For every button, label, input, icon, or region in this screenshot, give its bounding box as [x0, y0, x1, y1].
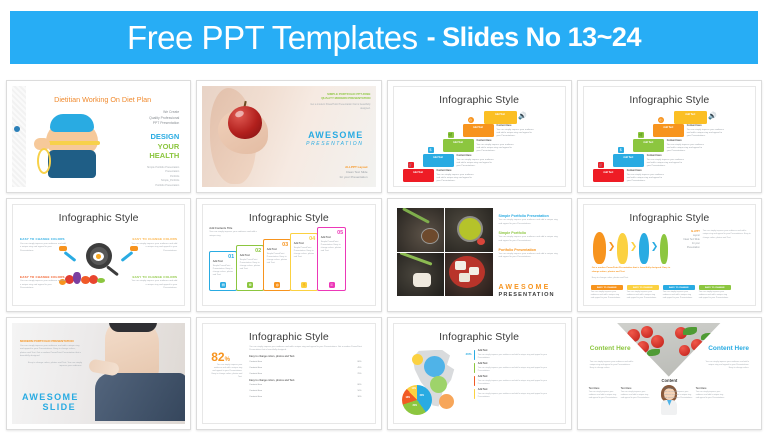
- leaf-icon: 🌿: [638, 132, 644, 138]
- slide-13-footer-5: Portfolio Presentation: [127, 184, 179, 188]
- slide-19-headline-1: AWESOME: [499, 284, 555, 291]
- food-photo-3: [397, 253, 444, 296]
- header-banner: Free PPT Templates - Slides No 13~24: [10, 11, 758, 64]
- slide-16-content-label-3: Content Here: [667, 139, 707, 143]
- slide-17-text-3: You can simply impress your audience and…: [20, 280, 66, 290]
- key-icon: ⚿: [329, 282, 335, 288]
- slide-20-subnote: Easy to change colors, photos and Text.: [592, 277, 702, 279]
- slide-13-headline-design: DESIGN: [127, 132, 179, 141]
- leaf-icon: ❁: [247, 282, 253, 288]
- slide-15-content-label-3: Content Here: [477, 139, 517, 143]
- slide-16-content-text-2: You can simply impress your audience and…: [647, 159, 684, 168]
- decor-texture-strip: [12, 86, 26, 187]
- legend-item: Add TextYou can simply impress your audi…: [474, 350, 560, 360]
- slide-16-content-text-1: You can simply impress your audience and…: [627, 174, 664, 183]
- slide-15-step-4-label: Add Text: [473, 126, 483, 129]
- slide-17-label-2: EASY TO CHANGE COLORS: [131, 237, 177, 241]
- card-05-label: Add Text: [321, 236, 344, 240]
- card-02-number: 02: [255, 248, 261, 254]
- slide-24-col-3: Text HereYou can simply impress your aud…: [664, 387, 694, 400]
- card-02-body: Simple PowerPoint Presentation. Easy to …: [240, 259, 260, 270]
- slide-thumbnail-24[interactable]: Content Here You can simply impress your…: [577, 317, 762, 430]
- slide-18-header-text: You can simply impress your audience and…: [209, 231, 257, 238]
- leaf-icon-veg: [97, 278, 105, 283]
- pie-label-1: 40%: [420, 395, 425, 397]
- slide-14-headline-2: PRESENTATION: [306, 141, 363, 147]
- slide-24-right-heading: Content Here: [708, 345, 749, 352]
- slide-14-bottom-3: for your Presentation: [340, 175, 368, 180]
- slide-22-percent-value: 82: [211, 350, 224, 364]
- stair-infographic: 🛒 Add Text Content HereYou can simply im…: [400, 111, 561, 182]
- card-03-label: Add Text: [267, 248, 289, 252]
- slide-15-content-label-2: Content Here: [457, 154, 497, 158]
- slide-24-col-1: Text HereYou can simply impress your aud…: [589, 387, 619, 400]
- slide-14-bottom-1: ALLPPT Layout: [345, 165, 367, 169]
- slide-24-col-4: Text HereYou can simply impress your aud…: [696, 387, 726, 400]
- slide-thumbnail-14[interactable]: SIMPLE PORTFOLIO PPT-FREE QUALITY MODERN…: [196, 80, 381, 193]
- slide-20-tag-4: EASY TO CHANGE: [699, 285, 731, 290]
- chart-legend: Add TextYou can simply impress your audi…: [474, 350, 560, 403]
- slide-20-kicker-4: for your: [692, 243, 700, 245]
- bubble-3: [430, 376, 447, 393]
- slide-thumbnail-15[interactable]: Infographic Style 🛒 Add Text Content Her…: [387, 80, 572, 193]
- slide-15-content-text-4: You can simply impress your audience and…: [497, 129, 534, 138]
- slide-16-step-5-label: Add Text: [685, 113, 695, 116]
- slide-20-orange-note: Get a modern PowerPoint Presentation tha…: [592, 267, 672, 274]
- slide-19-text-1: You can simply impress your audience and…: [499, 219, 562, 226]
- slide-14-green-note-2: QUALITY MODERN PRESENTATION: [305, 96, 371, 100]
- slide-15-title: Infographic Style: [394, 94, 565, 106]
- slide-22-title: Infographic Style: [203, 331, 374, 343]
- food-photo-grid: [397, 208, 493, 296]
- slide-thumbnail-20[interactable]: Infographic Style ❯ ❯ ❯ ALLPPT Layout Cl…: [577, 198, 762, 311]
- slide-20-title: Infographic Style: [584, 212, 755, 224]
- slide-23-bubble-pct: 40%: [466, 352, 472, 356]
- slide-15-content-text-2: You can simply impress your audience and…: [457, 159, 494, 168]
- slide-20-kicker-5: Presentation: [687, 247, 700, 249]
- drop-icon: ◍: [274, 282, 280, 288]
- slide-22-group-1-label: Easy to change colors, photos and Text.: [249, 355, 368, 358]
- slide-14-headline-1: AWESOME: [306, 130, 363, 140]
- slide-20-tag-2: EASY TO CHANGE: [627, 285, 659, 290]
- slide-20-tag-1: EASY TO CHANGE: [591, 285, 623, 290]
- legend-item: Add TextYou can simply impress your audi…: [474, 389, 560, 399]
- slide-19-text-3: You can simply impress your audience and…: [499, 253, 562, 260]
- card-01-body: Simple PowerPoint Presentation. Easy to …: [213, 265, 233, 276]
- slide-15-content-label-4: Content Here: [497, 124, 537, 128]
- slide-thumbnail-21[interactable]: MODERN PORTFOLIO PRESENTATION You can si…: [6, 317, 191, 430]
- slide-15-content-label-1: Content Here: [437, 169, 477, 173]
- bar-row: Contents Here30%: [249, 395, 368, 399]
- slide-thumbnail-16[interactable]: Infographic Style 🛒 Add Text Content Her…: [577, 80, 762, 193]
- slide-20-tag-1-text: You can simply impress your audience and…: [591, 291, 623, 300]
- slide-22-percent-symbol: %: [225, 357, 230, 363]
- slide-16-content-label-1: Content Here: [627, 169, 667, 173]
- pan-handle-icon: [106, 266, 119, 277]
- slide-thumbnail-17[interactable]: Infographic Style EASY TO CHANG: [6, 198, 191, 311]
- slide-19-heading-1: Simple Portfolio Presentation: [499, 214, 562, 218]
- slide-20-tag-2-text: You can simply impress your audience and…: [627, 291, 659, 300]
- slide-thumbnail-18[interactable]: Infographic Style Add Contents Title You…: [196, 198, 381, 311]
- slide-21-headline-1: AWESOME: [22, 392, 79, 402]
- slide-20-right-text: You can simply impress your audience and…: [703, 230, 751, 239]
- food-photo-1: [397, 208, 444, 251]
- slide-15-step-1-label: Add Text: [413, 171, 423, 174]
- page-root: Free PPT Templates - Slides No 13~24 Die…: [0, 0, 768, 435]
- slide-13-kicker-3: PPT Presentation: [127, 121, 179, 127]
- bubble-1: [412, 354, 423, 365]
- card-05-body: Simple PowerPoint Presentation. Easy to …: [321, 241, 341, 252]
- slide-17-title: Infographic Style: [13, 212, 184, 224]
- card-05[interactable]: 05 Add TextSimple PowerPoint Presentatio…: [317, 227, 346, 291]
- banner-title: Free PPT Templates: [127, 19, 418, 57]
- slide-16-content-text-4: You can simply impress your audience and…: [687, 129, 724, 138]
- slide-15-step-3-label: Add Text: [453, 141, 463, 144]
- slide-17-text-2: You can simply impress your audience and…: [131, 243, 177, 253]
- slide-22-intro: You can simply impress your audience and…: [249, 346, 368, 352]
- slide-24-left-heading: Content Here: [590, 345, 631, 352]
- slide-19-headline-2: PRESENTATION: [499, 292, 555, 298]
- slide-grid: Dietitian Working On Diet Plan We Create…: [6, 80, 762, 430]
- dollar-icon: $: [618, 147, 624, 153]
- card-01-number: 01: [228, 254, 234, 260]
- slide-15-content-text-3: You can simply impress your audience and…: [477, 144, 514, 153]
- slide-19-heading-3: Portfolio Presentation: [499, 248, 562, 252]
- monitor-icon: ▤: [220, 282, 226, 288]
- slide-24-right-text: You can simply impress your audience and…: [705, 361, 749, 370]
- bubble-4: [439, 394, 454, 409]
- slide-16-content-text-3: You can simply impress your audience and…: [667, 144, 704, 153]
- slide-21-body: You can simply impress your audience and…: [20, 345, 82, 359]
- slide-17-text-4: You can simply impress your audience and…: [131, 280, 177, 290]
- slide-13-headline-health: YOUR HEALTH: [127, 142, 179, 160]
- silhouette-3: [639, 233, 649, 264]
- slide-15-step-5-label: Add Text: [495, 113, 505, 116]
- card-05-number: 05: [337, 230, 343, 236]
- card-01-label: Add Text: [213, 260, 235, 264]
- slide-20-kicker-2: Layout: [693, 235, 700, 237]
- bar-row: Contents Here80%: [249, 383, 368, 387]
- pie-label-4: 12%: [412, 388, 417, 390]
- slide-21-body-2: Easy to change colors, photos and Text. …: [20, 362, 82, 369]
- leaf-icon: 🌿: [448, 132, 454, 138]
- card-03-body: Simple PowerPoint Presentation. Easy to …: [267, 253, 287, 264]
- slide-18-title: Infographic Style: [203, 212, 374, 224]
- cart-icon: 🛒: [598, 162, 604, 168]
- clock-icon: ◴: [658, 117, 664, 123]
- bubble-2: [424, 356, 445, 377]
- slide-20-tag-4-text: You can simply impress your audience and…: [699, 291, 731, 300]
- card-03[interactable]: 03 Add TextSimple PowerPoint Presentatio…: [263, 239, 291, 291]
- slide-thumbnail-19[interactable]: Simple Portfolio Presentation You can si…: [387, 198, 572, 311]
- thumb-icon: ✋: [301, 282, 307, 288]
- slide-15-step-2-label: Add Text: [433, 156, 443, 159]
- speaker-icon: 🔊: [520, 113, 526, 119]
- bar-row: Contents Here50%: [249, 389, 368, 393]
- pie-chart: 40% 30% 18% 12%: [402, 385, 432, 415]
- card-03-number: 03: [282, 242, 288, 248]
- slide-15-content-text-1: You can simply impress your audience and…: [437, 174, 474, 183]
- food-photo-2: [445, 208, 492, 251]
- photo-waist: [83, 323, 185, 421]
- slide-24-col-2: Text HereYou can simply impress your aud…: [621, 387, 651, 400]
- slide-22-group-2-label: Easy to change colors, photos and Text.: [249, 379, 368, 382]
- card-04[interactable]: 04 Add TextSimple PowerPoint Presentatio…: [290, 233, 318, 291]
- decor-dot: [14, 126, 20, 132]
- slide-17-label-3: EASY TO CHANGE COLORS: [20, 275, 66, 279]
- slide-16-step-1-label: Add Text: [603, 171, 613, 174]
- slide-20-kicker-1: ALLPPT: [691, 231, 700, 233]
- slide-thumbnail-13[interactable]: Dietitian Working On Diet Plan We Create…: [6, 80, 191, 193]
- bar-row: Contents Here80%: [249, 360, 368, 364]
- silhouette-4: [660, 234, 668, 264]
- slide-17-text-1: You can simply impress your audience and…: [20, 243, 66, 253]
- dollar-icon: $: [428, 147, 434, 153]
- pie-label-2: 30%: [413, 405, 418, 407]
- slide-16-content-label-2: Content Here: [647, 154, 687, 158]
- slide-16-step-4-label: Add Text: [663, 126, 673, 129]
- stair-infographic-2: 🛒 Add Text Content HereYou can simply im…: [590, 111, 751, 182]
- slide-16-title: Infographic Style: [584, 94, 755, 106]
- slide-19-heading-2: Simple Portfolio: [499, 231, 562, 235]
- card-02[interactable]: 02 Add TextSimple PowerPoint Presentatio…: [236, 245, 264, 291]
- photo-apple: [228, 106, 262, 139]
- slide-16-step-2-label: Add Text: [623, 156, 633, 159]
- banner-subtitle: - Slides No 13~24: [427, 22, 641, 53]
- slide-21-headline-2: SLIDE: [22, 402, 76, 412]
- card-04-number: 04: [309, 236, 315, 242]
- bar-row: Contents Here25%: [249, 372, 368, 376]
- slide-24-center-heading: Content: [583, 378, 756, 383]
- slide-thumbnail-23[interactable]: Infographic Style 40% 40% 30% 18% 12% Ad…: [387, 317, 572, 430]
- card-04-label: Add Text: [294, 242, 316, 246]
- slide-22-left-text: You can simply impress your audience and…: [210, 364, 242, 379]
- slide-14-gray-note: Get a modern PowerPoint Presentation tha…: [305, 103, 371, 111]
- silhouette-1: [593, 232, 606, 264]
- slide-16-content-label-4: Content Here: [687, 124, 727, 128]
- slide-16-step-3-label: Add Text: [643, 141, 653, 144]
- silhouette-2: [617, 233, 628, 264]
- bar-row: Contents Here45%: [249, 366, 368, 370]
- slide-17-label-4: EASY TO CHANGE COLORS: [131, 275, 177, 279]
- card-04-body: Simple PowerPoint Presentation. Easy to …: [294, 247, 314, 258]
- card-01[interactable]: 01 Add TextSimple PowerPoint Presentatio…: [209, 251, 237, 291]
- slide-17-label-1: EASY TO CHANGE COLORS: [20, 237, 66, 241]
- slide-20-tag-3: EASY TO CHANGE: [663, 285, 695, 290]
- slide-13-title: Dietitian Working On Diet Plan: [26, 95, 179, 104]
- pie-label-3: 18%: [406, 397, 411, 399]
- slide-thumbnail-22[interactable]: Infographic Style 82% You can simply imp…: [196, 317, 381, 430]
- slide-20-tag-3-text: You can simply impress your audience and…: [663, 291, 695, 300]
- legend-item: Add TextYou can simply impress your audi…: [474, 363, 560, 373]
- slide-18-header-label: Add Contents Title: [209, 227, 257, 230]
- slide-23-title: Infographic Style: [394, 331, 565, 343]
- speaker-icon: 🔊: [710, 113, 716, 119]
- eggplant-icon: [73, 272, 81, 284]
- slide-24-left-text: You can simply impress your audience and…: [590, 361, 634, 370]
- slide-21-heading: MODERN PORTFOLIO PRESENTATION: [20, 339, 82, 343]
- card-02-label: Add Text: [240, 254, 262, 258]
- cart-icon: 🛒: [408, 162, 414, 168]
- slide-20-kicker-3: Clean Text Slide: [683, 239, 700, 241]
- legend-item: Add TextYou can simply impress your audi…: [474, 376, 560, 386]
- food-photo-4: [445, 253, 492, 296]
- illustration-person: [36, 108, 102, 176]
- clock-icon: ◴: [468, 117, 474, 123]
- slide-19-text-2: You can simply impress your audience and…: [499, 236, 562, 243]
